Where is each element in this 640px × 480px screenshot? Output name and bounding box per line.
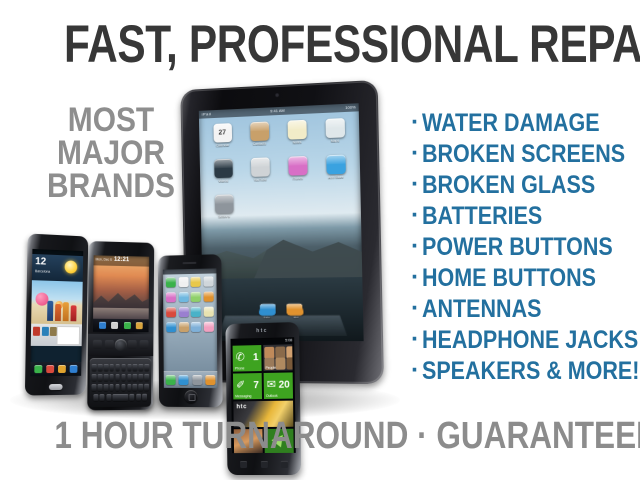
- thumbnail: [33, 327, 40, 336]
- app-store-icon[interactable]: [179, 292, 189, 302]
- app-label: Videos: [207, 178, 240, 183]
- app-label: Safari: [259, 316, 276, 319]
- app-icon-cell[interactable]: Settings: [207, 194, 240, 219]
- samsung-galaxy-device: 12 Barcelona: [25, 233, 88, 395]
- temperature-label: 12: [35, 257, 46, 268]
- avatar: [275, 358, 285, 370]
- app-icon-cell[interactable]: Videos: [206, 159, 239, 184]
- settings-icon[interactable]: [203, 276, 213, 286]
- wp-hardware-keys: [227, 457, 301, 471]
- service-label: ANTENNAS: [422, 294, 541, 325]
- city-label: Barcelona: [35, 269, 50, 274]
- list-item: · BROKEN SCREENS: [409, 139, 640, 170]
- app-label: Mail: [287, 316, 304, 319]
- key[interactable]: [103, 384, 108, 390]
- bullet-icon: ·: [411, 108, 419, 137]
- services-list: · WATER DAMAGE · BROKEN SCREENS · BROKEN…: [409, 108, 640, 387]
- photos-icon[interactable]: [179, 307, 189, 317]
- app-store-icon: [326, 155, 346, 175]
- tile-label: Phone: [235, 366, 245, 370]
- bullet-icon: ·: [411, 263, 419, 292]
- person-figure: [63, 302, 69, 321]
- list-item: · BROKEN GLASS: [409, 170, 640, 201]
- contacts-icon[interactable]: [179, 322, 189, 332]
- key[interactable]: [139, 374, 144, 380]
- galaxy-widget-row[interactable]: [31, 324, 82, 346]
- blackberry-nav-row: [88, 334, 154, 356]
- key[interactable]: [121, 374, 126, 380]
- key[interactable]: [121, 384, 126, 390]
- back-key[interactable]: [128, 340, 137, 349]
- person-figure: [71, 305, 77, 321]
- tile-count: 7: [253, 381, 259, 391]
- wallpaper-mountain: [201, 222, 362, 281]
- key[interactable]: [136, 394, 141, 400]
- key[interactable]: [115, 374, 120, 380]
- person-figure: [47, 301, 53, 321]
- key[interactable]: [109, 374, 114, 380]
- list-item: · WATER DAMAGE: [409, 108, 640, 139]
- repair-shop-ad: FAST, PROFESSIONAL REPAIRS MOST MAJOR BR…: [0, 0, 640, 480]
- weather-widget[interactable]: 12 Barcelona: [32, 254, 83, 282]
- iphone-home-button[interactable]: [184, 390, 197, 403]
- key[interactable]: [133, 384, 138, 390]
- app-label: YouTube: [244, 177, 277, 182]
- key[interactable]: [103, 374, 108, 380]
- service-label: HEADPHONE JACKS: [422, 325, 638, 356]
- dock-mail-icon[interactable]: [206, 375, 216, 385]
- iphone-app-grid: [166, 276, 214, 332]
- tile-phone[interactable]: ✆ 1 Phone: [233, 345, 262, 372]
- service-label: WATER DAMAGE: [422, 108, 600, 139]
- blackberry-torch-device: Mon, Dec 6 12:21: [87, 241, 154, 410]
- tile-label: Outlook: [266, 394, 278, 398]
- key[interactable]: [133, 374, 138, 380]
- galaxy-screen: 12 Barcelona: [30, 249, 83, 376]
- notes-icon: [287, 120, 306, 140]
- tile-count: 20: [279, 381, 290, 391]
- key[interactable]: [139, 364, 144, 370]
- key[interactable]: [106, 394, 111, 400]
- key[interactable]: [127, 374, 132, 380]
- tile-label: Messaging: [235, 394, 251, 398]
- music-icon[interactable]: [166, 307, 176, 317]
- menu-key[interactable]: [105, 340, 114, 349]
- person-figure: [55, 304, 61, 321]
- tile-messaging[interactable]: ✐ 7 Messaging: [233, 373, 262, 399]
- trackpad[interactable]: [115, 339, 127, 351]
- avatar: [286, 357, 292, 369]
- maps-icon[interactable]: [203, 307, 213, 317]
- key[interactable]: [92, 364, 97, 370]
- service-label: POWER BUTTONS: [422, 232, 613, 263]
- service-label: SPEAKERS & MORE!: [422, 356, 639, 387]
- list-item: · HOME BUTTONS: [409, 263, 640, 294]
- key[interactable]: [109, 384, 114, 390]
- space-key[interactable]: [112, 394, 128, 401]
- key[interactable]: [144, 374, 149, 380]
- maps-icon: [325, 118, 345, 138]
- iphone-dock: [164, 371, 218, 388]
- tile-count: 1: [253, 353, 259, 363]
- clock-label: 12:21: [114, 257, 129, 263]
- clock-icon[interactable]: [191, 322, 201, 332]
- videos-icon[interactable]: [204, 322, 214, 332]
- apps-icon[interactable]: [70, 365, 78, 373]
- key[interactable]: [145, 364, 150, 370]
- windows-key[interactable]: [260, 460, 267, 467]
- key[interactable]: [121, 364, 126, 370]
- app-icon-cell[interactable]: Maps: [317, 118, 352, 144]
- earpiece-speaker: [182, 262, 196, 264]
- blackberry-app-tray: [93, 319, 149, 332]
- ipad-status-bar: iPad 9:41 AM 100%: [199, 103, 359, 118]
- list-item: · POWER BUTTONS: [409, 232, 640, 263]
- app-icon-cell[interactable]: App Store: [318, 154, 353, 179]
- phone-icon: ✆: [236, 352, 245, 363]
- safari-icon[interactable]: [166, 322, 176, 332]
- clock-label: 9:41 AM: [270, 108, 285, 114]
- iphone-status-bar: [163, 268, 217, 274]
- key[interactable]: [133, 364, 138, 370]
- service-label: BROKEN GLASS: [422, 170, 595, 201]
- key[interactable]: [142, 394, 147, 400]
- note-widget: [56, 326, 80, 345]
- tagline: 1 HOUR TURNAROUND · GUARANTEED WORK: [54, 414, 585, 458]
- galaxy-home-button[interactable]: [49, 384, 63, 390]
- bullet-icon: ·: [411, 325, 419, 354]
- weather-icon[interactable]: [191, 307, 201, 317]
- key[interactable]: [97, 374, 102, 380]
- service-label: HOME BUTTONS: [422, 263, 596, 294]
- end-key[interactable]: [140, 340, 149, 349]
- dock-icon-cell[interactable]: Safari: [259, 304, 276, 319]
- ipad-app-grid: 27 Calendar Contacts Notes Maps: [206, 118, 354, 219]
- dock-settings-icon[interactable]: [192, 375, 202, 385]
- itunes-icon[interactable]: [166, 292, 176, 302]
- mail-icon: ✉: [267, 380, 276, 391]
- contacts-icon: [250, 121, 269, 141]
- bullet-icon: ·: [411, 356, 419, 385]
- bullet-icon: ·: [411, 294, 419, 323]
- mail-icon[interactable]: [203, 292, 213, 302]
- itunes-icon: [288, 156, 307, 176]
- app-icon-cell[interactable]: Notes: [280, 119, 314, 144]
- search-key[interactable]: [281, 460, 288, 467]
- app-label: iTunes: [281, 176, 315, 181]
- date-label: Mon, Dec 6: [96, 257, 112, 261]
- keyboard-row: [91, 384, 149, 391]
- key[interactable]: [100, 394, 105, 400]
- iphone-screen: [163, 268, 218, 388]
- calendar-icon[interactable]: [178, 277, 188, 287]
- phone-icon[interactable]: [34, 365, 42, 373]
- list-item: · SPEAKERS & MORE!: [409, 356, 640, 387]
- keyboard-row: [92, 364, 150, 370]
- key[interactable]: [144, 384, 149, 390]
- app-label: Calendar: [206, 143, 239, 148]
- key[interactable]: [109, 364, 114, 370]
- key[interactable]: [127, 384, 132, 390]
- page-title: FAST, PROFESSIONAL REPAIRS: [64, 18, 576, 72]
- bullet-icon: ·: [411, 170, 419, 199]
- sun-icon: [65, 260, 78, 273]
- bullet-icon: ·: [411, 201, 419, 230]
- phone-icon[interactable]: [124, 322, 131, 329]
- messaging-icon[interactable]: [58, 365, 66, 373]
- key[interactable]: [97, 384, 102, 390]
- back-key[interactable]: [240, 461, 247, 468]
- ipad-dock-row: Safari Mail: [224, 303, 341, 319]
- list-item: · ANTENNAS: [409, 294, 640, 325]
- tile-label: People: [266, 366, 277, 370]
- app-icon-cell[interactable]: Contacts: [242, 121, 276, 146]
- ipad-screen: iPad 9:41 AM 100% 27 Calendar Contacts: [199, 103, 364, 341]
- key[interactable]: [129, 394, 134, 400]
- key[interactable]: [91, 384, 96, 390]
- key[interactable]: [139, 384, 144, 390]
- list-item: · HEADPHONE JACKS: [409, 325, 640, 356]
- bullet-icon: ·: [411, 232, 419, 261]
- settings-icon: [214, 194, 233, 213]
- blackberry-keyboard[interactable]: [89, 358, 151, 407]
- app-label: Maps: [318, 138, 352, 143]
- app-icon-cell[interactable]: iTunes: [280, 156, 314, 181]
- service-label: BROKEN SCREENS: [422, 139, 625, 170]
- app-label: Settings: [208, 214, 241, 219]
- key[interactable]: [115, 384, 120, 390]
- safari-icon: [259, 304, 276, 316]
- tile-people[interactable]: People: [263, 344, 292, 371]
- service-label: BATTERIES: [422, 201, 542, 232]
- iphone-device: [158, 254, 223, 407]
- app-icon-cell[interactable]: YouTube: [243, 157, 277, 182]
- thumbnail: [41, 327, 48, 336]
- messages-icon[interactable]: [191, 292, 201, 302]
- app-label: App Store: [319, 175, 353, 180]
- app-label: Contacts: [243, 141, 276, 146]
- htc-hub-label: htc: [236, 404, 247, 410]
- phone-icon[interactable]: [166, 277, 176, 287]
- contacts-icon[interactable]: [46, 365, 54, 373]
- notes-icon[interactable]: [191, 277, 201, 287]
- messages-icon[interactable]: [99, 322, 106, 329]
- keyboard-row: [91, 394, 149, 401]
- key[interactable]: [92, 374, 97, 380]
- blackberry-screen: Mon, Dec 6 12:21: [93, 255, 149, 332]
- htc-brand-label: htc: [225, 327, 299, 335]
- dock-phone-icon[interactable]: [165, 375, 175, 385]
- wallpaper-photo: [31, 280, 83, 324]
- tile-outlook[interactable]: ✉ 20 Outlook: [264, 372, 293, 399]
- key[interactable]: [127, 364, 132, 370]
- bullet-icon: ·: [411, 139, 419, 168]
- key[interactable]: [115, 364, 120, 370]
- videos-icon: [214, 159, 233, 178]
- youtube-icon: [250, 157, 269, 177]
- mail-icon: [287, 303, 305, 315]
- clock-label: 5:08: [285, 338, 292, 342]
- dock-icon-cell[interactable]: Mail: [287, 303, 305, 319]
- carrier-label: iPad: [202, 111, 212, 116]
- app-label: Notes: [280, 140, 314, 145]
- key[interactable]: [103, 364, 108, 370]
- key[interactable]: [98, 364, 103, 370]
- app-icon-cell[interactable]: 27 Calendar: [206, 123, 239, 148]
- list-item: · BATTERIES: [409, 201, 640, 232]
- blackberry-status-bar: Mon, Dec 6 12:21: [94, 255, 150, 266]
- media-icon[interactable]: [136, 322, 143, 329]
- galaxy-dock: [30, 362, 81, 376]
- key[interactable]: [93, 394, 98, 400]
- dock-safari-icon[interactable]: [179, 375, 189, 385]
- camera-icon: [275, 93, 279, 97]
- call-key[interactable]: [93, 340, 102, 349]
- keyboard-row: [92, 374, 150, 381]
- device-photo-group: iPad 9:41 AM 100% 27 Calendar Contacts: [0, 80, 410, 410]
- browser-icon[interactable]: [111, 322, 118, 329]
- message-icon: ✐: [236, 380, 245, 391]
- calendar-icon: 27: [213, 123, 232, 143]
- battery-label: 100%: [345, 104, 356, 110]
